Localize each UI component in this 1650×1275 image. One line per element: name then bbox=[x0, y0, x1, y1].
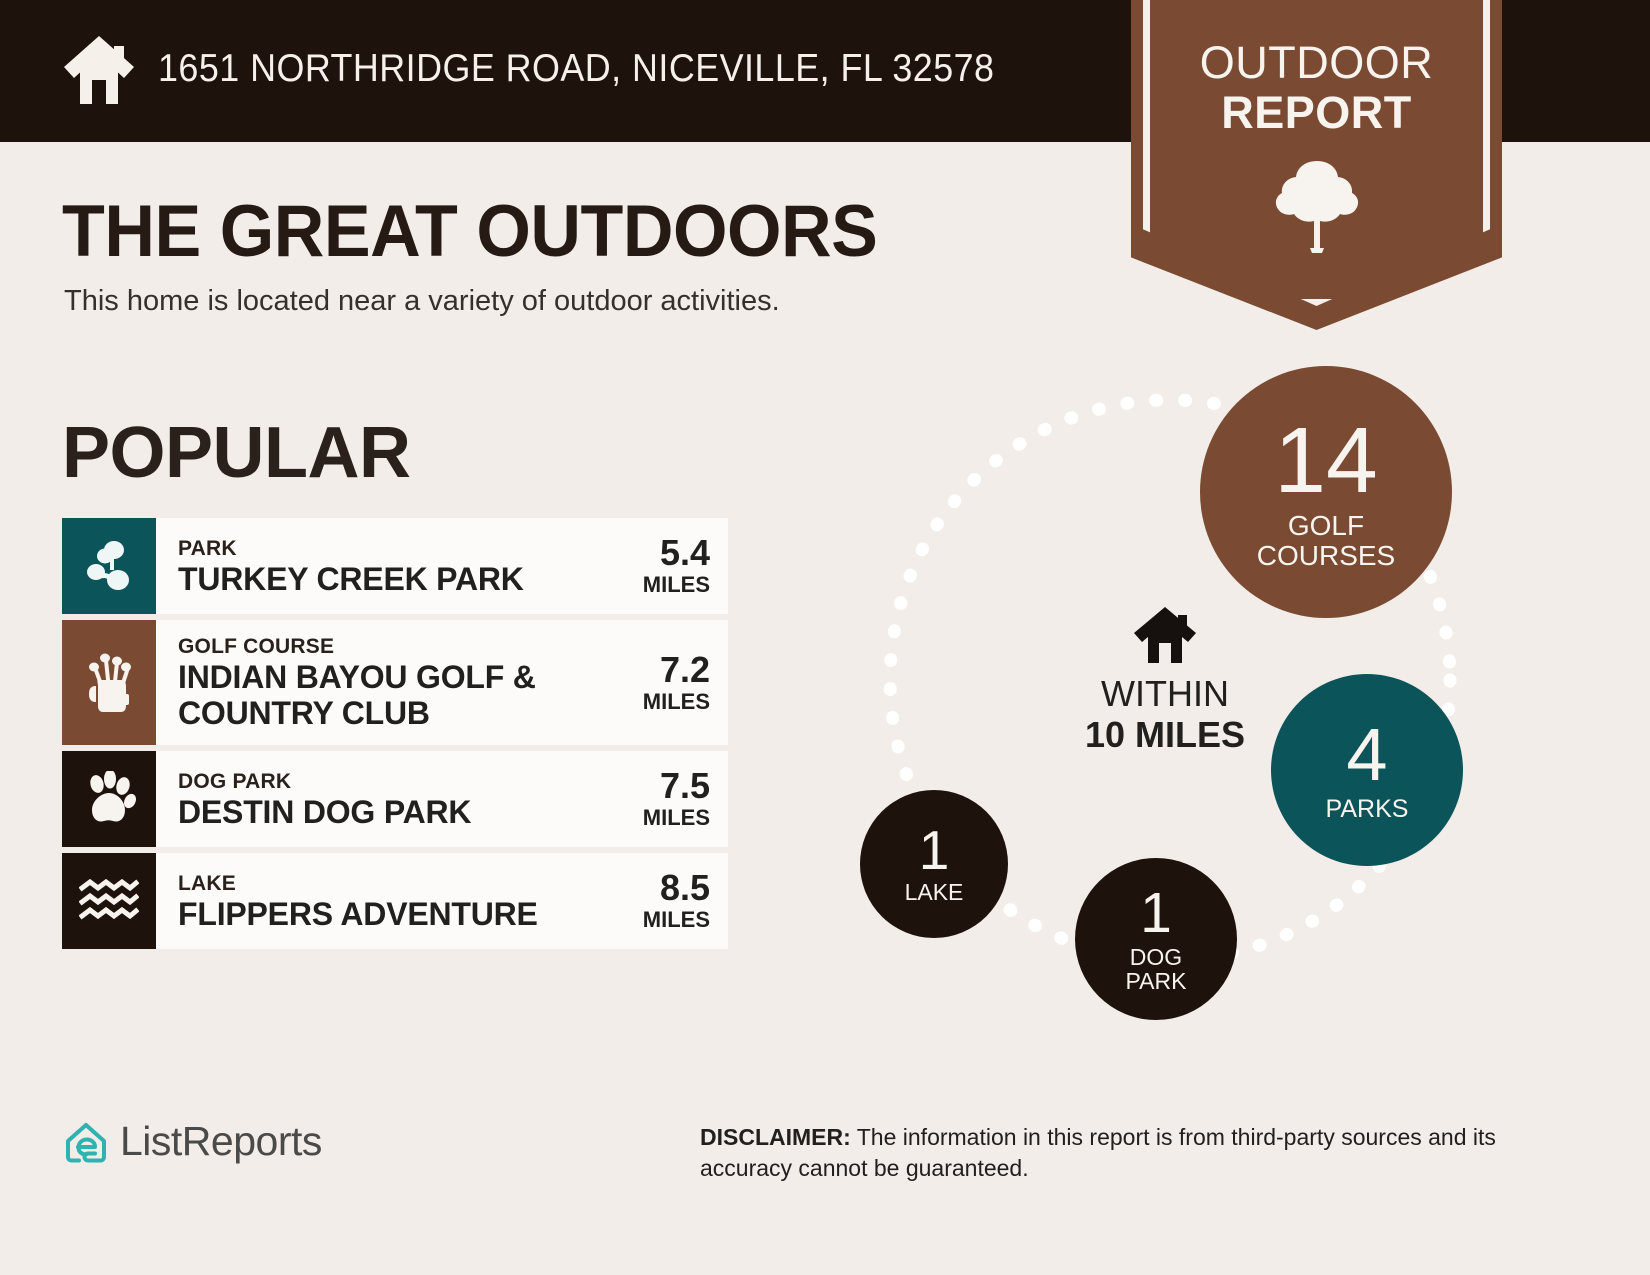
stat-circle-golf-courses[interactable]: 14 GOLF COURSES bbox=[1200, 366, 1452, 618]
stat-label: PARKS bbox=[1326, 796, 1409, 822]
stat-circle-lake[interactable]: 1 LAKE bbox=[860, 790, 1008, 938]
stat-count: 14 bbox=[1274, 414, 1377, 507]
stat-label-line1: GOLF bbox=[1257, 511, 1395, 540]
tree-icon bbox=[1272, 158, 1362, 253]
poi-category: GOLF COURSE bbox=[178, 634, 600, 659]
park-trees-icon bbox=[81, 538, 137, 594]
stat-label-line2: PARK bbox=[1126, 969, 1187, 993]
poi-icon-box bbox=[62, 853, 156, 949]
poi-name: DESTIN DOG PARK bbox=[178, 794, 600, 830]
poi-distance-unit: MILES bbox=[643, 689, 710, 715]
stat-label: LAKE bbox=[905, 880, 964, 904]
listreports-logo[interactable]: ListReports bbox=[64, 1118, 322, 1165]
within-10-miles-diagram: 14 GOLF COURSES 4 PARKS 1 LAKE 1 DOG PAR… bbox=[820, 350, 1520, 1050]
stat-label: GOLF COURSES bbox=[1257, 511, 1395, 570]
poi-distance-value: 5.4 bbox=[660, 534, 710, 572]
poi-text: LAKE FLIPPERS ADVENTURE bbox=[156, 853, 600, 949]
poi-name: TURKEY CREEK PARK bbox=[178, 561, 600, 597]
badge-title-line2: REPORT bbox=[1131, 88, 1502, 138]
badge-title-line1: OUTDOOR bbox=[1131, 38, 1502, 88]
diagram-center-node: WITHIN 10 MILES bbox=[1030, 605, 1300, 755]
poi-distance-value: 8.5 bbox=[660, 869, 710, 907]
poi-distance-value: 7.5 bbox=[660, 767, 710, 805]
golf-bag-icon bbox=[81, 652, 137, 714]
listreports-logo-text: ListReports bbox=[120, 1118, 322, 1165]
disclaimer-label: DISCLAIMER: bbox=[700, 1124, 851, 1150]
poi-distance-unit: MILES bbox=[643, 572, 710, 598]
poi-distance-value: 7.2 bbox=[660, 651, 710, 689]
property-address: 1651 NORTHRIDGE ROAD, NICEVILLE, FL 3257… bbox=[158, 47, 994, 91]
poi-text: GOLF COURSE INDIAN BAYOU GOLF & COUNTRY … bbox=[156, 620, 600, 745]
list-item[interactable]: LAKE FLIPPERS ADVENTURE 8.5 MILES bbox=[62, 853, 728, 949]
poi-category: LAKE bbox=[178, 871, 600, 896]
poi-category: PARK bbox=[178, 536, 600, 561]
poi-text: PARK TURKEY CREEK PARK bbox=[156, 518, 600, 614]
disclaimer: DISCLAIMER: The information in this repo… bbox=[700, 1122, 1510, 1184]
center-text-line2: 10 MILES bbox=[1030, 714, 1300, 755]
popular-places-list: PARK TURKEY CREEK PARK 5.4 MILES bbox=[62, 518, 728, 955]
poi-name: INDIAN BAYOU GOLF & COUNTRY CLUB bbox=[178, 659, 600, 731]
poi-name: FLIPPERS ADVENTURE bbox=[178, 896, 600, 932]
poi-icon-box bbox=[62, 620, 156, 745]
stat-count: 1 bbox=[919, 823, 950, 878]
section-heading-popular: POPULAR bbox=[62, 412, 411, 494]
list-item[interactable]: PARK TURKEY CREEK PARK 5.4 MILES bbox=[62, 518, 728, 614]
stat-count: 4 bbox=[1346, 718, 1387, 792]
stat-circle-dog-park[interactable]: 1 DOG PARK bbox=[1075, 858, 1237, 1020]
poi-distance-unit: MILES bbox=[643, 907, 710, 933]
poi-distance-unit: MILES bbox=[643, 805, 710, 831]
diagram-center-text: WITHIN 10 MILES bbox=[1030, 673, 1300, 755]
poi-category: DOG PARK bbox=[178, 769, 600, 794]
badge-title: OUTDOOR REPORT bbox=[1131, 38, 1502, 138]
poi-distance: 5.4 MILES bbox=[600, 518, 728, 614]
list-item[interactable]: DOG PARK DESTIN DOG PARK 7.5 MILES bbox=[62, 751, 728, 847]
stat-label-line2: COURSES bbox=[1257, 541, 1395, 570]
outdoor-report-infographic: 1651 NORTHRIDGE ROAD, NICEVILLE, FL 3257… bbox=[0, 0, 1650, 1275]
paw-print-icon bbox=[82, 771, 136, 827]
home-icon bbox=[1132, 605, 1198, 665]
center-text-line1: WITHIN bbox=[1030, 673, 1300, 714]
stat-label: DOG PARK bbox=[1126, 945, 1187, 993]
listreports-house-icon bbox=[64, 1120, 108, 1164]
list-item[interactable]: GOLF COURSE INDIAN BAYOU GOLF & COUNTRY … bbox=[62, 620, 728, 745]
water-waves-icon bbox=[79, 879, 139, 923]
page-subtitle: This home is located near a variety of o… bbox=[64, 285, 780, 318]
home-icon bbox=[62, 34, 136, 106]
poi-distance: 7.5 MILES bbox=[600, 751, 728, 847]
poi-distance: 8.5 MILES bbox=[600, 853, 728, 949]
poi-icon-box bbox=[62, 518, 156, 614]
poi-distance: 7.2 MILES bbox=[600, 620, 728, 745]
poi-text: DOG PARK DESTIN DOG PARK bbox=[156, 751, 600, 847]
poi-icon-box bbox=[62, 751, 156, 847]
stat-count: 1 bbox=[1140, 885, 1172, 942]
stat-label-line1: DOG bbox=[1126, 945, 1187, 969]
page-title: THE GREAT OUTDOORS bbox=[62, 190, 877, 273]
